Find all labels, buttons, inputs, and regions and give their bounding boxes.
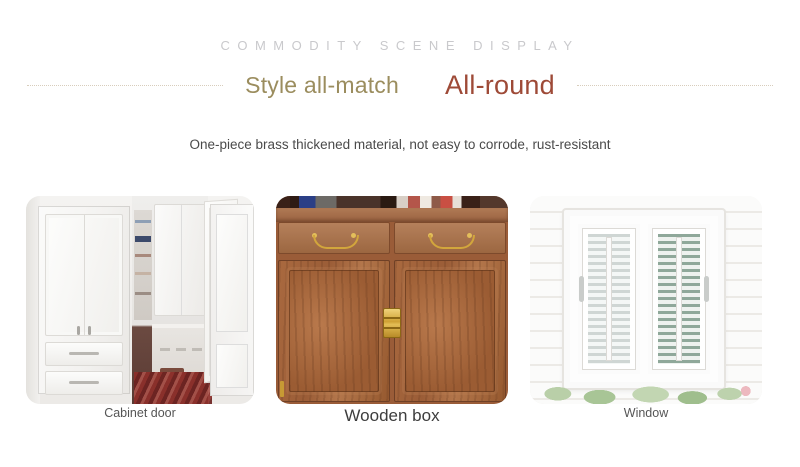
dotted-rule-right: [577, 85, 773, 86]
caption-window: Window: [530, 406, 762, 440]
window-leaf-left: [578, 224, 640, 374]
wooden-door-left: [278, 260, 390, 402]
window-handle-right: [704, 276, 709, 302]
wooden-door-right: [394, 260, 506, 402]
cabinet-panel-upper: [216, 214, 248, 332]
caption-wooden-box: Wooden box: [276, 406, 508, 440]
brass-hinge-icon: [383, 308, 401, 338]
cabinet-panel: [45, 214, 123, 336]
cabinet-left: [38, 206, 130, 394]
window-sash: [578, 224, 710, 374]
cabinet-panel-lower: [216, 344, 248, 388]
brass-edge-hinge-icon: [280, 381, 284, 397]
subtitle-text: One-piece brass thickened material, not …: [0, 137, 800, 152]
photo-window: [530, 196, 762, 404]
commodity-scene-display-page: COMMODITY SCENE DISPLAY Style all-match …: [0, 0, 800, 467]
gallery-item-cabinet-door[interactable]: [26, 196, 254, 404]
eyebrow-label: COMMODITY SCENE DISPLAY: [0, 38, 800, 53]
cabinet-knobs: [76, 326, 92, 331]
vanity-counter: [152, 324, 210, 372]
shutter-tilt-rod: [677, 238, 681, 360]
gallery-item-wooden-box[interactable]: [276, 196, 508, 404]
drawer-lower: [45, 371, 123, 395]
door-panel-inset: [405, 270, 495, 392]
window-frame: [564, 210, 724, 388]
door-panel-inset: [289, 270, 379, 392]
caption-row: Cabinet door Wooden box Window: [26, 406, 774, 440]
window-handle-left: [579, 276, 584, 302]
headline-row: Style all-match All-round: [0, 70, 800, 101]
drawer-right: [394, 222, 506, 254]
shutter-tilt-rod: [607, 238, 611, 360]
shoe-shelf: [134, 210, 152, 320]
photo-cabinet-door: [26, 196, 254, 404]
inner-cabinet: [154, 204, 208, 316]
dotted-rule-left: [27, 85, 223, 86]
foliage-foreground: [530, 370, 762, 404]
gallery-item-window[interactable]: [530, 196, 762, 404]
window-glass-right: [658, 234, 700, 364]
photo-wooden-box: [276, 196, 508, 404]
drawer-row: [276, 220, 508, 256]
drawer-upper: [45, 342, 123, 366]
window-leaf-right: [648, 224, 710, 374]
patterned-rug: [134, 372, 212, 404]
drawer-left: [278, 222, 390, 254]
window-glass-left: [588, 234, 630, 364]
cabinet-right: [210, 204, 254, 396]
title-primary: Style all-match: [245, 72, 399, 99]
title-secondary: All-round: [445, 70, 555, 101]
scene-gallery: [26, 196, 774, 404]
caption-cabinet-door: Cabinet door: [26, 406, 254, 440]
